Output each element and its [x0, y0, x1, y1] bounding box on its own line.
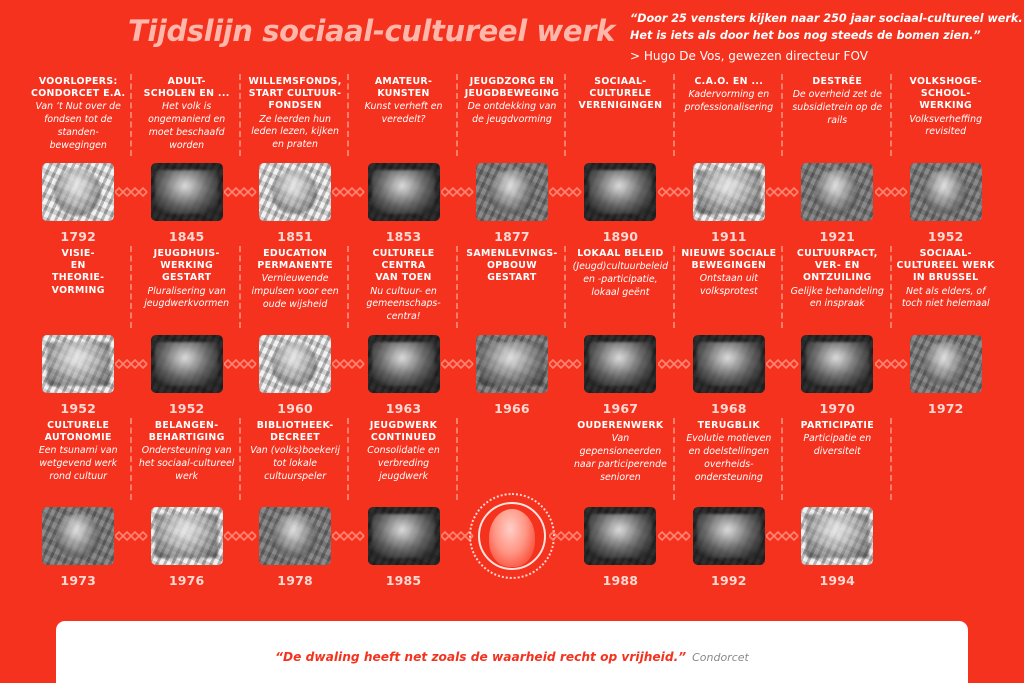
photo-cell	[892, 500, 1000, 572]
entry-heading: VOLKSHOGE-SCHOOL-WERKING	[897, 76, 995, 113]
entry-heading: CULTURELECENTRAVAN TOEN	[354, 248, 452, 285]
timeline-year-row: 179218451851185318771890191119211952	[24, 228, 1000, 244]
entry-subtitle: De overheid zet de subsidietrein op de r…	[788, 89, 886, 127]
entry-year: 1877	[458, 229, 566, 244]
participatie-banner-photo[interactable]	[801, 507, 873, 565]
timeline-photo-strip	[24, 156, 1000, 228]
timeline-entry[interactable]: PARTICIPATIEParticipatie en diversiteit	[783, 416, 891, 500]
photo-cell	[241, 328, 349, 400]
footer-panel: “De dwaling heeft net zoals de waarheid …	[56, 621, 968, 683]
entry-text-box: JEUGDZORG ENJEUGDBEWEGINGDe ontdekking v…	[463, 72, 561, 156]
timeline-entry[interactable]: OUDERENWERKVan gepensioneerden naar part…	[566, 416, 674, 500]
entry-subtitle: Evolutie motieven en doelstellingen over…	[680, 433, 778, 484]
entry-heading: PARTICIPATIE	[788, 420, 886, 432]
entry-year: 1992	[675, 573, 783, 588]
timeline-row: CULTURELEAUTONOMIEEen tsunami van wetgev…	[24, 416, 1000, 588]
entry-subtitle: Van gepensioneerden naar participerende …	[571, 433, 669, 484]
page-header: Tijdslijn sociaal-cultureel werk “Door 2…	[0, 0, 1024, 72]
entry-heading: JEUGDZORG ENJEUGDBEWEGING	[463, 76, 561, 100]
photo-cell	[349, 156, 457, 228]
timeline-entry[interactable]: EDUCATIONPERMANENTEVernieuwende impulsen…	[241, 244, 349, 328]
entry-year: 1851	[241, 229, 349, 244]
entry-text-box: SOCIAAL-CULTURELEVERENIGINGEN	[571, 72, 669, 156]
timeline-entry[interactable]: CULTURELEAUTONOMIEEen tsunami van wetgev…	[24, 416, 132, 500]
entry-heading: BELANGEN-BEHARTIGING	[137, 420, 235, 444]
cultural-centre-building-photo[interactable]	[368, 335, 440, 393]
entry-subtitle: Ze leerden hun leden lezen, kijken en pr…	[246, 114, 344, 152]
entry-heading: VOORLOPERS:CONDORCET E.A.	[29, 76, 127, 100]
entry-subtitle: Van ‘t Nut over de fondsen tot de stande…	[29, 101, 127, 152]
photo-cell	[892, 156, 1000, 228]
monument-statue-photo[interactable]	[259, 163, 331, 221]
protest-march-photo[interactable]	[693, 335, 765, 393]
entry-subtitle: Van (volks)boekerij tot lokale cultuursp…	[246, 445, 344, 483]
timeline-entry[interactable]: AMATEUR-KUNSTENKunst verheft en veredelt…	[349, 72, 457, 156]
entry-text-box	[897, 416, 995, 500]
entry-year: 1968	[675, 401, 783, 416]
photo-cell	[241, 500, 349, 572]
entry-text-box: CULTUURPACT,VER- ENONTZUILINGGelijke beh…	[788, 244, 886, 328]
group-portrait-photo[interactable]	[151, 163, 223, 221]
photo-cell	[783, 156, 891, 228]
timeline-entry[interactable]: NIEUWE SOCIALEBEWEGINGENOntstaan uit vol…	[675, 244, 783, 328]
photo-cell	[132, 500, 240, 572]
entry-text-box: TERUGBLIKEvolutie motieven en doelstelli…	[680, 416, 778, 500]
timeline-entry[interactable]: WILLEMSFONDS,START CULTUUR-FONDSENZe lee…	[241, 72, 349, 156]
photo-cell	[566, 328, 674, 400]
entry-year: 1970	[783, 401, 891, 416]
band-ensemble-photo[interactable]	[368, 163, 440, 221]
timeline-entry[interactable]: SAMENLEVINGS-OPBOUWGESTART	[458, 244, 566, 328]
entry-year: 1966	[458, 401, 566, 416]
photo-cell	[566, 500, 674, 572]
photo-cell	[24, 500, 132, 572]
entry-subtitle: Net als elders, of toch niet helemaal	[897, 286, 995, 312]
entry-year: 1845	[132, 229, 240, 244]
entry-subtitle: Ontstaan uit volksprotest	[680, 273, 778, 299]
entry-year: 1853	[349, 229, 457, 244]
entry-text-box: LOKAAL BELEID(Jeugd)cultuurbeleid en -pa…	[571, 244, 669, 328]
entry-year: 1911	[675, 229, 783, 244]
signing-ceremony-photo[interactable]	[801, 335, 873, 393]
entry-heading: JEUGDHUIS-WERKINGGESTART	[137, 248, 235, 285]
entry-text-box: SAMENLEVINGS-OPBOUWGESTART	[463, 244, 561, 328]
entry-text-box: EDUCATIONPERMANENTEVernieuwende impulsen…	[246, 244, 344, 328]
entry-year: 1952	[24, 401, 132, 416]
entry-text-box: VISIE-ENTHEORIE-VORMING	[29, 244, 127, 328]
entry-heading: SOCIAAL-CULTURELEVERENIGINGEN	[571, 76, 669, 113]
entry-heading: SAMENLEVINGS-OPBOUWGESTART	[463, 248, 561, 285]
footer-quote: “De dwaling heeft net zoals de waarheid …	[275, 650, 686, 664]
timeline-photo-strip	[24, 328, 1000, 400]
entry-year: 1952	[892, 229, 1000, 244]
seal-inner-ring	[478, 502, 546, 570]
entry-subtitle: Volksverheffing revisited	[897, 114, 995, 140]
timeline-entry[interactable]: VOORLOPERS:CONDORCET E.A.Van ‘t Nut over…	[24, 72, 132, 156]
photo-cell	[349, 328, 457, 400]
entry-heading: DESTRÉE	[788, 76, 886, 88]
demonstration-photo[interactable]	[584, 335, 656, 393]
entry-text-box: VOLKSHOGE-SCHOOL-WERKINGVolksverheffing …	[897, 72, 995, 156]
timeline-entry[interactable]: BIBLIOTHEEK-DECREETVan (volks)boekerij t…	[241, 416, 349, 500]
photo-cell	[892, 328, 1000, 400]
header-quote-attribution: > Hugo De Vos, gewezen directeur FOV	[630, 46, 1020, 66]
timeline-entry[interactable]: JEUGDHUIS-WERKINGGESTARTPluralisering va…	[132, 244, 240, 328]
timeline-grid: VOORLOPERS:CONDORCET E.A.Van ‘t Nut over…	[24, 72, 1000, 588]
timeline-entry[interactable]: BELANGEN-BEHARTIGINGOndersteuning van he…	[132, 416, 240, 500]
crowd-assembly-photo[interactable]	[584, 163, 656, 221]
entry-text-box: PARTICIPATIEParticipatie en diversiteit	[788, 416, 886, 500]
entry-heading: EDUCATIONPERMANENTE	[246, 248, 344, 272]
seniors-meeting-photo[interactable]	[584, 507, 656, 565]
entry-text-box: JEUGDHUIS-WERKINGGESTARTPluralisering va…	[137, 244, 235, 328]
timeline-entry[interactable]	[458, 416, 566, 500]
timeline-text-row: CULTURELEAUTONOMIEEen tsunami van wetgev…	[24, 416, 1000, 500]
timeline-row: VISIE-ENTHEORIE-VORMINGJEUGDHUIS-WERKING…	[24, 244, 1000, 416]
entry-year: 1890	[566, 229, 674, 244]
timeline-entry[interactable]: TERUGBLIKEvolutie motieven en doelstelli…	[675, 416, 783, 500]
timeline-entry[interactable]: CULTURELECENTRAVAN TOENNu cultuur- en ge…	[349, 244, 457, 328]
youth-club-photo[interactable]	[151, 335, 223, 393]
photo-cell	[241, 156, 349, 228]
photo-cell	[24, 156, 132, 228]
timeline-photo-strip	[24, 500, 1000, 572]
entry-subtitle: Gelijke behandeling en inspraak	[788, 286, 886, 312]
timeline-entry[interactable]: VISIE-ENTHEORIE-VORMING	[24, 244, 132, 328]
entry-year: 1978	[241, 573, 349, 588]
entry-text-box: SOCIAAL-CULTUREEL WERKIN BRUSSELNet als …	[897, 244, 995, 328]
entry-subtitle: Een tsunami van wetgevend werk rond cult…	[29, 445, 127, 483]
entry-subtitle: Nu cultuur- en gemeenschaps-centra!	[354, 286, 452, 324]
entry-heading: ADULT-SCHOLEN EN ...	[137, 76, 235, 100]
entry-year: 1960	[241, 401, 349, 416]
entry-subtitle: De ontdekking van de jeugdvorming	[463, 101, 561, 127]
photo-cell	[675, 328, 783, 400]
entry-text-box	[463, 416, 561, 500]
entry-subtitle: Het volk is ongemanierd en moet beschaaf…	[137, 101, 235, 152]
portrait-sculpture-photo[interactable]	[910, 163, 982, 221]
photo-cell	[783, 500, 891, 572]
entry-text-box: VOORLOPERS:CONDORCET E.A.Van ‘t Nut over…	[29, 72, 127, 156]
entry-text-box: NIEUWE SOCIALEBEWEGINGENOntstaan uit vol…	[680, 244, 778, 328]
entry-text-box: JEUGDWERKCONTINUEDConsolidatie en verbre…	[354, 416, 452, 500]
entry-text-box: C.A.O. EN ...Kadervorming en professiona…	[680, 72, 778, 156]
timeline-entry[interactable]: C.A.O. EN ...Kadervorming en professiona…	[675, 72, 783, 156]
entry-subtitle: Consolidatie en verbreding jeugdwerk	[354, 445, 452, 483]
entry-heading: LOKAAL BELEID	[571, 248, 669, 260]
timeline-entry[interactable]: LOKAAL BELEID(Jeugd)cultuurbeleid en -pa…	[566, 244, 674, 328]
condorcet-seal-icon	[469, 493, 555, 579]
youth-scouts-photo[interactable]	[476, 163, 548, 221]
entry-year: 1967	[566, 401, 674, 416]
entry-subtitle: Pluralisering van jeugdwerkvormen	[137, 286, 235, 312]
entry-text-box: ADULT-SCHOLEN EN ...Het volk is ongemani…	[137, 72, 235, 156]
entry-heading: AMATEUR-KUNSTEN	[354, 76, 452, 100]
entry-year: 1985	[349, 573, 457, 588]
photo-cell	[566, 156, 674, 228]
entry-text-box: BELANGEN-BEHARTIGINGOndersteuning van he…	[137, 416, 235, 500]
footer-attribution: Condorcet	[692, 651, 749, 664]
entry-heading: JEUGDWERKCONTINUED	[354, 420, 452, 444]
timeline-entry[interactable]: CULTUURPACT,VER- ENONTZUILINGGelijke beh…	[783, 244, 891, 328]
entry-year: 1963	[349, 401, 457, 416]
entry-year: 1921	[783, 229, 891, 244]
photo-cell	[24, 328, 132, 400]
photo-cell	[349, 500, 457, 572]
photo-cell	[132, 328, 240, 400]
entry-subtitle: (Jeugd)cultuurbeleid en -participatie, l…	[571, 261, 669, 299]
condorcet-seal-photo[interactable]	[42, 163, 114, 221]
entry-year	[892, 573, 1000, 588]
entry-heading: NIEUWE SOCIALEBEWEGINGEN	[680, 248, 778, 272]
photo-cell	[132, 156, 240, 228]
photo-cell	[458, 500, 566, 572]
photo-cell	[783, 328, 891, 400]
portrait-speaker-photo[interactable]	[910, 335, 982, 393]
header-quote-block: “Door 25 vensters kijken naar 250 jaar s…	[630, 10, 1020, 66]
photo-cell	[675, 156, 783, 228]
entry-text-box: CULTURELEAUTONOMIEEen tsunami van wetgev…	[29, 416, 127, 500]
timeline-row: VOORLOPERS:CONDORCET E.A.Van ‘t Nut over…	[24, 72, 1000, 244]
entry-heading: C.A.O. EN ...	[680, 76, 778, 88]
timeline-year-row: 195219521960196319661967196819701972	[24, 400, 1000, 416]
entry-heading: OUDERENWERK	[571, 420, 669, 432]
entry-heading: CULTUURPACT,VER- ENONTZUILING	[788, 248, 886, 285]
entry-year: 1994	[783, 573, 891, 588]
entry-subtitle: Kunst verheft en veredelt?	[354, 101, 452, 127]
entry-year: 1792	[24, 229, 132, 244]
entry-text-box: DESTRÉEDe overheid zet de subsidietrein …	[788, 72, 886, 156]
timeline-entry[interactable]	[892, 416, 1000, 500]
entry-year: 1976	[132, 573, 240, 588]
entry-subtitle: Vernieuwende impulsen voor een oude wijs…	[246, 273, 344, 311]
timeline-entry[interactable]: DESTRÉEDe overheid zet de subsidietrein …	[783, 72, 891, 156]
entry-heading: TERUGBLIK	[680, 420, 778, 432]
jeugddienst-sign-photo[interactable]	[368, 507, 440, 565]
entry-heading: SOCIAAL-CULTUREEL WERKIN BRUSSEL	[897, 248, 995, 285]
timeline-entry[interactable]: JEUGDZORG ENJEUGDBEWEGINGDe ontdekking v…	[458, 72, 566, 156]
header-quote-line-2: Het is iets als door het bos nog steeds …	[630, 27, 1020, 44]
timeline-text-row: VISIE-ENTHEORIE-VORMINGJEUGDHUIS-WERKING…	[24, 244, 1000, 328]
entry-year: 1952	[132, 401, 240, 416]
timeline-entry[interactable]: ADULT-SCHOLEN EN ...Het volk is ongemani…	[132, 72, 240, 156]
entry-heading: CULTURELEAUTONOMIE	[29, 420, 127, 444]
entry-subtitle: Kadervorming en professionalisering	[680, 89, 778, 115]
centrale-arbeidersopvoeding-poster[interactable]	[693, 163, 765, 221]
portrait-man-photo[interactable]	[801, 163, 873, 221]
entry-year: 1973	[24, 573, 132, 588]
protest-banner-photo[interactable]	[151, 507, 223, 565]
timeline-entry[interactable]: JEUGDWERKCONTINUEDConsolidatie en verbre…	[349, 416, 457, 500]
entry-text-box: OUDERENWERKVan gepensioneerden naar part…	[571, 416, 669, 500]
entry-text-box: CULTURELECENTRAVAN TOENNu cultuur- en ge…	[354, 244, 452, 328]
entry-text-box: BIBLIOTHEEK-DECREETVan (volks)boekerij t…	[246, 416, 344, 500]
street-crowd-photo[interactable]	[476, 335, 548, 393]
photo-cell	[675, 500, 783, 572]
speaker-lecture-photo[interactable]	[693, 507, 765, 565]
entry-subtitle: Ondersteuning van het sociaal-cultureel …	[137, 445, 235, 483]
books-documents-photo[interactable]	[42, 335, 114, 393]
timeline-entry[interactable]: VOLKSHOGE-SCHOOL-WERKINGVolksverheffing …	[892, 72, 1000, 156]
timeline-entry[interactable]: SOCIAAL-CULTURELEVERENIGINGEN	[566, 72, 674, 156]
header-quote-line-1: “Door 25 vensters kijken naar 250 jaar s…	[630, 10, 1020, 27]
photo-cell	[458, 328, 566, 400]
photo-cell	[458, 156, 566, 228]
entry-heading: VISIE-ENTHEORIE-VORMING	[29, 248, 127, 297]
library-building-photo[interactable]	[259, 507, 331, 565]
entry-subtitle: Participatie en diversiteit	[788, 433, 886, 459]
unesco-logo-photo[interactable]	[259, 335, 331, 393]
timeline-text-row: VOORLOPERS:CONDORCET E.A.Van ‘t Nut over…	[24, 72, 1000, 156]
timeline-entry[interactable]: SOCIAAL-CULTUREEL WERKIN BRUSSELNet als …	[892, 244, 1000, 328]
page-title: Tijdslijn sociaal-cultureel werk	[128, 14, 615, 48]
entry-heading: BIBLIOTHEEK-DECREET	[246, 420, 344, 444]
entry-year: 1988	[566, 573, 674, 588]
entry-text-box: AMATEUR-KUNSTENKunst verheft en veredelt…	[354, 72, 452, 156]
entry-text-box: WILLEMSFONDS,START CULTUUR-FONDSENZe lee…	[246, 72, 344, 156]
entry-year: 1972	[892, 401, 1000, 416]
woman-portrait-photo[interactable]	[42, 507, 114, 565]
entry-heading: WILLEMSFONDS,START CULTUUR-FONDSEN	[246, 76, 344, 113]
